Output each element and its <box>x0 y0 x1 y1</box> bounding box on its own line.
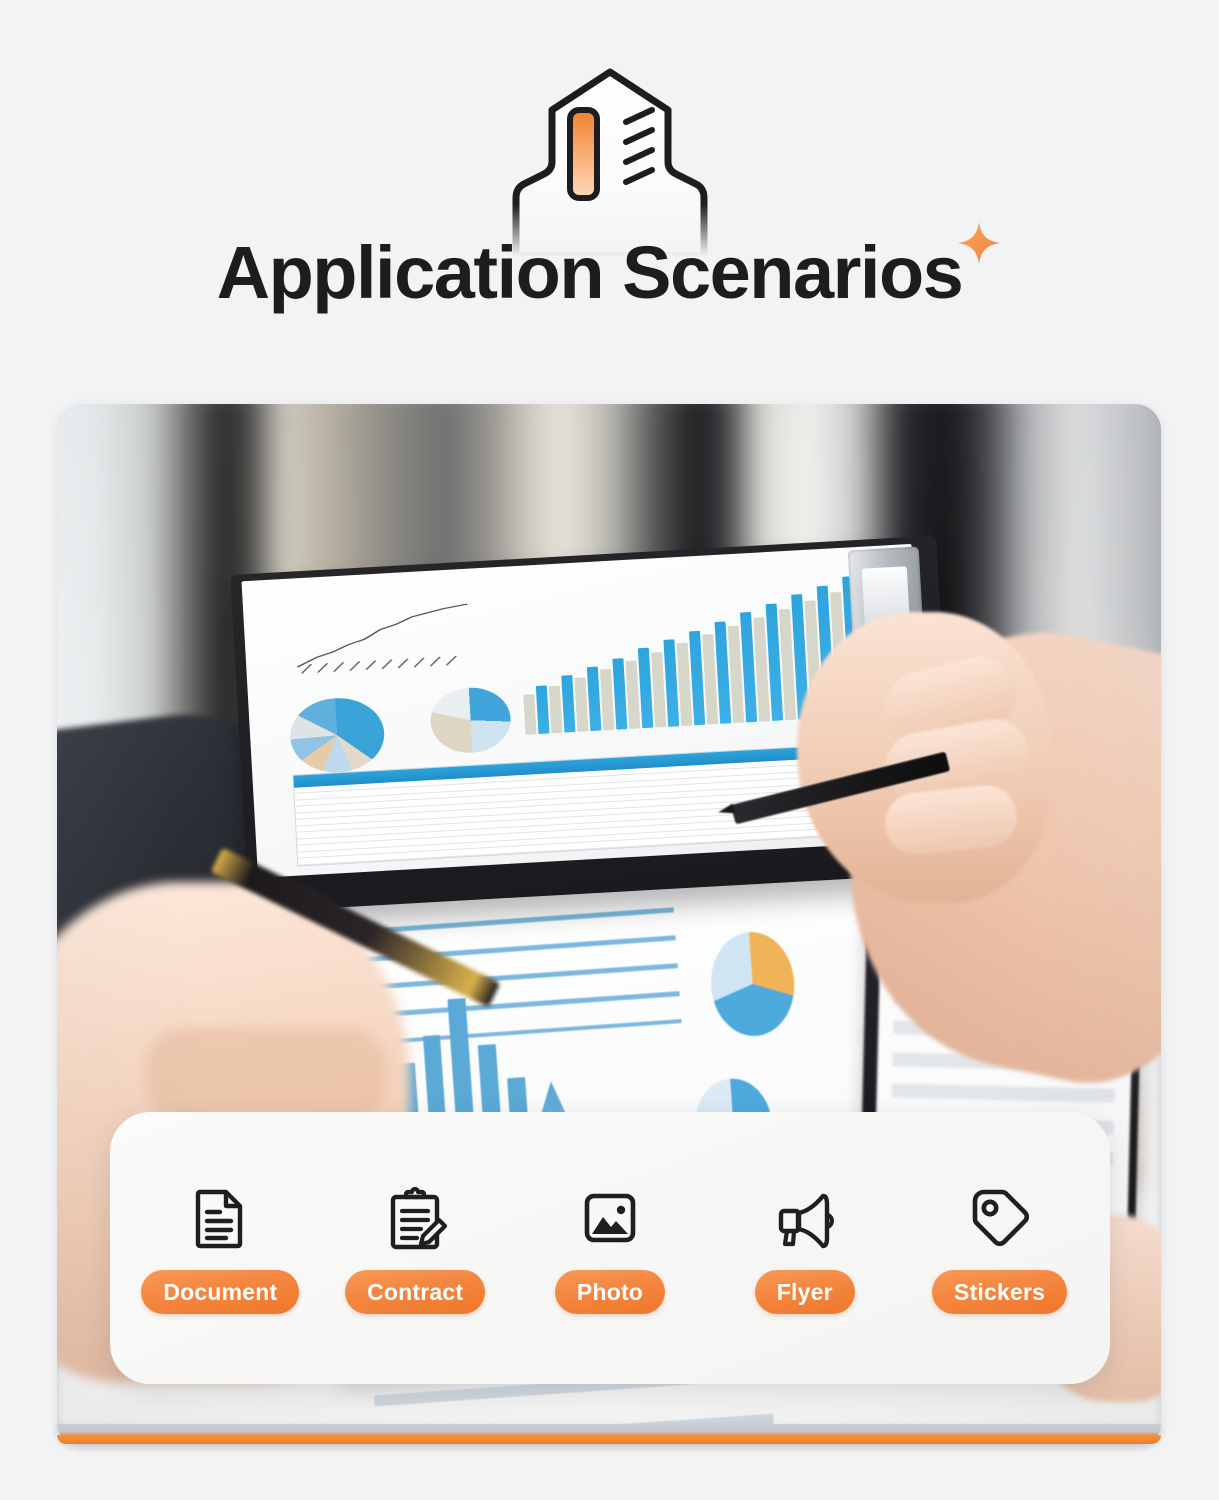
scenario-badge-list: Document Con <box>110 1112 1110 1384</box>
scenario-badge-card: Document Con <box>110 1112 1110 1384</box>
tag-icon <box>964 1182 1036 1254</box>
clipboard-pencil-icon <box>379 1182 451 1254</box>
page-header: Application Scenarios <box>0 0 1219 392</box>
sparkle-icon <box>956 220 1002 266</box>
title-row: Application Scenarios <box>0 236 1219 310</box>
page-title: Application Scenarios <box>217 236 963 310</box>
badge-label-photo[interactable]: Photo <box>555 1270 665 1314</box>
scenario-item-document[interactable]: Document <box>140 1182 301 1314</box>
badge-label-contract[interactable]: Contract <box>345 1270 485 1314</box>
report-pie-chart-2 <box>429 685 513 755</box>
application-scenarios-page: Application Scenarios <box>0 0 1219 1500</box>
badge-label-flyer[interactable]: Flyer <box>755 1270 855 1314</box>
paper-pie-chart-1 <box>708 929 798 1039</box>
foreground-hand-knuckles <box>145 1028 388 1122</box>
megaphone-icon <box>769 1182 841 1254</box>
photo-accent-bar <box>57 1424 1161 1444</box>
scenario-item-photo[interactable]: Photo <box>530 1182 691 1314</box>
image-icon <box>574 1182 646 1254</box>
scenario-item-flyer[interactable]: Flyer <box>724 1182 885 1314</box>
badge-label-document[interactable]: Document <box>141 1270 299 1314</box>
scenario-item-stickers[interactable]: Stickers <box>919 1182 1080 1314</box>
report-line-chart <box>290 600 495 677</box>
building-icon <box>500 66 720 256</box>
document-icon <box>184 1182 256 1254</box>
badge-label-stickers[interactable]: Stickers <box>932 1270 1067 1314</box>
report-pie-chart-1 <box>288 695 386 774</box>
scenario-item-contract[interactable]: Contract <box>335 1182 496 1314</box>
